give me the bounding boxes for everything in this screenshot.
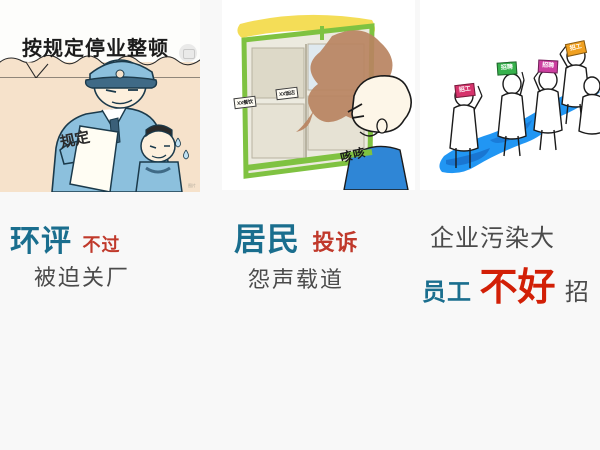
inspector-illustration	[46, 56, 200, 192]
caption2-keyword: 居民	[234, 221, 300, 257]
caption1-line1: 环评 不过	[10, 216, 120, 260]
caption1-line2: 被迫关厂	[34, 260, 130, 292]
caption2-line2: 怨声载道	[248, 262, 344, 294]
job-sign-2: 招聘	[497, 61, 518, 75]
caption1-highlight: 不过	[82, 235, 120, 255]
panel-row: 按规定停业整顿	[0, 0, 600, 195]
jobseekers-map-illustration	[420, 0, 600, 190]
smoke-storefront-illustration	[222, 0, 415, 190]
caption3-keyword: 员工	[422, 279, 472, 306]
caption-row: 环评 不过 被迫关厂 居民 投诉 怨声载道 企业污染大 员工 不好 招	[0, 198, 600, 328]
panel-pollution-complaint: XX餐饮 XX饭店 咳咳	[222, 0, 415, 190]
caption3-suffix: 招	[565, 279, 590, 306]
caption3-highlight: 不好	[479, 267, 555, 309]
job-sign-1: 招工	[454, 83, 475, 98]
job-sign-3: 招聘	[538, 59, 559, 73]
caption2-line1: 居民 投诉	[234, 214, 358, 260]
caption1-keyword: 环评	[10, 225, 72, 258]
footer-whitespace	[0, 330, 600, 450]
caption3-line2: 员工 不好 招	[422, 256, 590, 311]
infographic-canvas: 按规定停业整顿	[0, 0, 600, 450]
caption2-highlight: 投诉	[312, 230, 358, 255]
caption3-line1: 企业污染大	[430, 218, 555, 253]
panel-recruitment: 招工 招聘 招聘 招工	[420, 0, 600, 190]
tiny-watermark-text: 图片	[188, 183, 196, 189]
panel-inspection: 按规定停业整顿	[0, 0, 200, 192]
